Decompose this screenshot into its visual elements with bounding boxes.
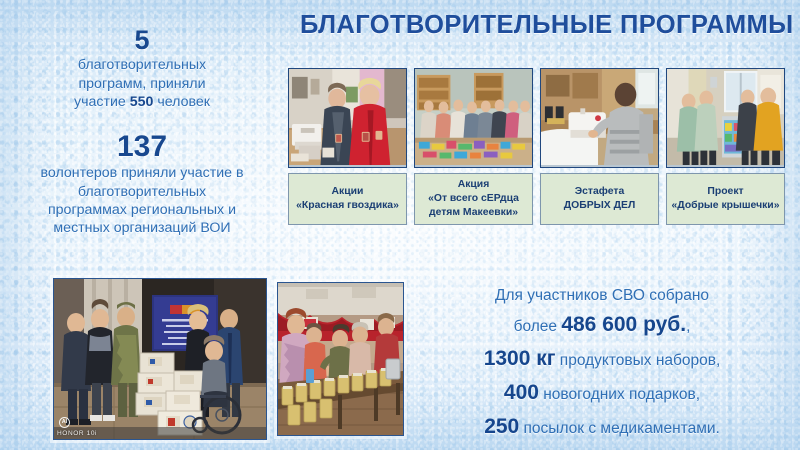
statistics-block: 5 благотворительныхпрограмм, принялиучас… (6, 26, 278, 237)
photo-caption-3: ЭстафетаДОБРЫХ ДЕЛ (540, 173, 659, 225)
photo-group-with-aid-boxes: AI HONOR 10i (53, 278, 267, 440)
svo-amount-parcels: 250 (484, 415, 519, 438)
slide-canvas: БЛАГОТВОРИТЕЛЬНЫЕ ПРОГРАММЫ 5 благотвори… (0, 0, 800, 450)
ai-camera-icon: AI (59, 417, 70, 428)
svo-line-3: 1300 кг продуктовых наборов, (410, 342, 794, 376)
svo-amount-gifts: 400 (504, 381, 539, 404)
photo-caption-1: Акции«Красная гвоздика» (288, 173, 407, 225)
svo-amount-kg: 1300 кг (484, 347, 556, 370)
photo-watermark: HONOR 10i (57, 430, 97, 437)
photo-card-4: Проект«Добрые крышечки» (666, 68, 785, 225)
photo-card-2: Акция«От всего сЕРдца детям Макеевки» (414, 68, 533, 225)
photo-woman-at-sewing-machine (540, 68, 659, 168)
stat-number-programs: 5 (6, 26, 278, 54)
page-title: БЛАГОТВОРИТЕЛЬНЫЕ ПРОГРАММЫ (300, 11, 790, 39)
stat-text-programs: благотворительныхпрограмм, принялиучасти… (6, 56, 278, 111)
svo-line-5: 250 посылок с медикаментами. (410, 410, 794, 444)
stat-item-volunteers: 137 волонтеров приняли участие вблаготво… (6, 131, 278, 237)
svo-line-2: более 486 600 руб., (410, 308, 794, 342)
stat-number-volunteers: 137 (6, 131, 278, 163)
photo-volunteers-packing-jars (277, 282, 404, 436)
photo-group-school-supplies (414, 68, 533, 168)
svo-line-1: Для участников СВО собрано (410, 283, 794, 308)
photo-caption-2: Акция«От всего сЕРдца детям Макеевки» (414, 173, 533, 225)
svo-line-4: 400 новогодних подарков, (410, 376, 794, 410)
stat-emphasis-550: 550 (130, 94, 154, 110)
stat-text-volunteers: волонтеров приняли участие вблаготворите… (6, 164, 278, 237)
photo-caption-4: Проект«Добрые крышечки» (666, 173, 785, 225)
photo-card-1: Акции«Красная гвоздика» (288, 68, 407, 225)
photo-card-3: ЭстафетаДОБРЫХ ДЕЛ (540, 68, 659, 225)
photo-two-women-sewing-machine (288, 68, 407, 168)
svo-summary-block: Для участников СВО собрано более 486 600… (410, 283, 794, 444)
photo-card-row: Акции«Красная гвоздика» (288, 68, 792, 225)
stat-item-programs: 5 благотворительныхпрограмм, принялиучас… (6, 26, 278, 111)
svo-amount-rub: 486 600 руб. (561, 313, 686, 336)
photo-people-with-collection-bin (666, 68, 785, 168)
